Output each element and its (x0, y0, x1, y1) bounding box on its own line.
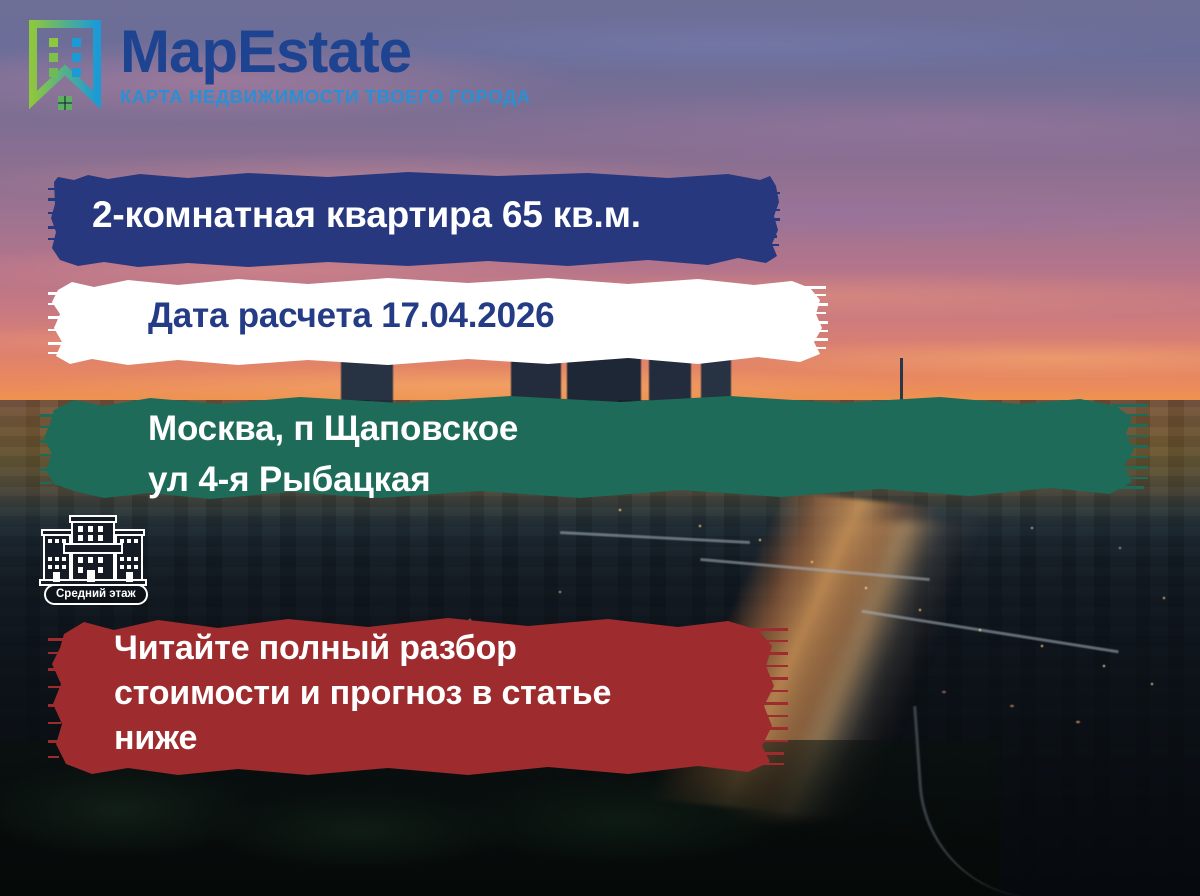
poster-canvas: MapEstate КАРТА НЕДВИЖИМОСТИ ТВОЕГО ГОРО… (0, 0, 1200, 896)
brand-name: MapEstate (120, 22, 531, 82)
cta-line-1: Читайте полный разбор (114, 626, 788, 671)
brand-logo-text: MapEstate КАРТА НЕДВИЖИМОСТИ ТВОЕГО ГОРО… (120, 22, 531, 108)
cta-line-3: ниже (114, 716, 788, 761)
address-banner-text: Москва, п Щаповское ул 4-я Рыбацкая (40, 388, 1148, 506)
cta-banner: Читайте полный разбор стоимости и прогно… (48, 608, 788, 784)
date-banner: Дата расчета 17.04.2026 (48, 272, 828, 370)
address-banner: Москва, п Щаповское ул 4-я Рыбацкая (40, 388, 1148, 510)
bookmark-building-icon (28, 20, 106, 112)
address-line-2: ул 4-я Рыбацкая (148, 455, 1148, 506)
cta-line-2: стоимости и прогноз в статье (114, 671, 788, 716)
title-banner: 2-комнатная квартира 65 кв.м. (48, 168, 780, 272)
address-line-1: Москва, п Щаповское (148, 404, 1148, 455)
cta-banner-text: Читайте полный разбор стоимости и прогно… (48, 608, 788, 761)
title-banner-text: 2-комнатная квартира 65 кв.м. (48, 168, 780, 236)
floor-badge: Средний этаж (38, 512, 148, 604)
floor-badge-label: Средний этаж (44, 584, 148, 605)
brand-tagline: КАРТА НЕДВИЖИМОСТИ ТВОЕГО ГОРОДА (120, 86, 531, 108)
brand-logo[interactable]: MapEstate КАРТА НЕДВИЖИМОСТИ ТВОЕГО ГОРО… (28, 20, 531, 112)
date-banner-text: Дата расчета 17.04.2026 (48, 272, 828, 336)
apartment-building-icon (38, 512, 148, 590)
